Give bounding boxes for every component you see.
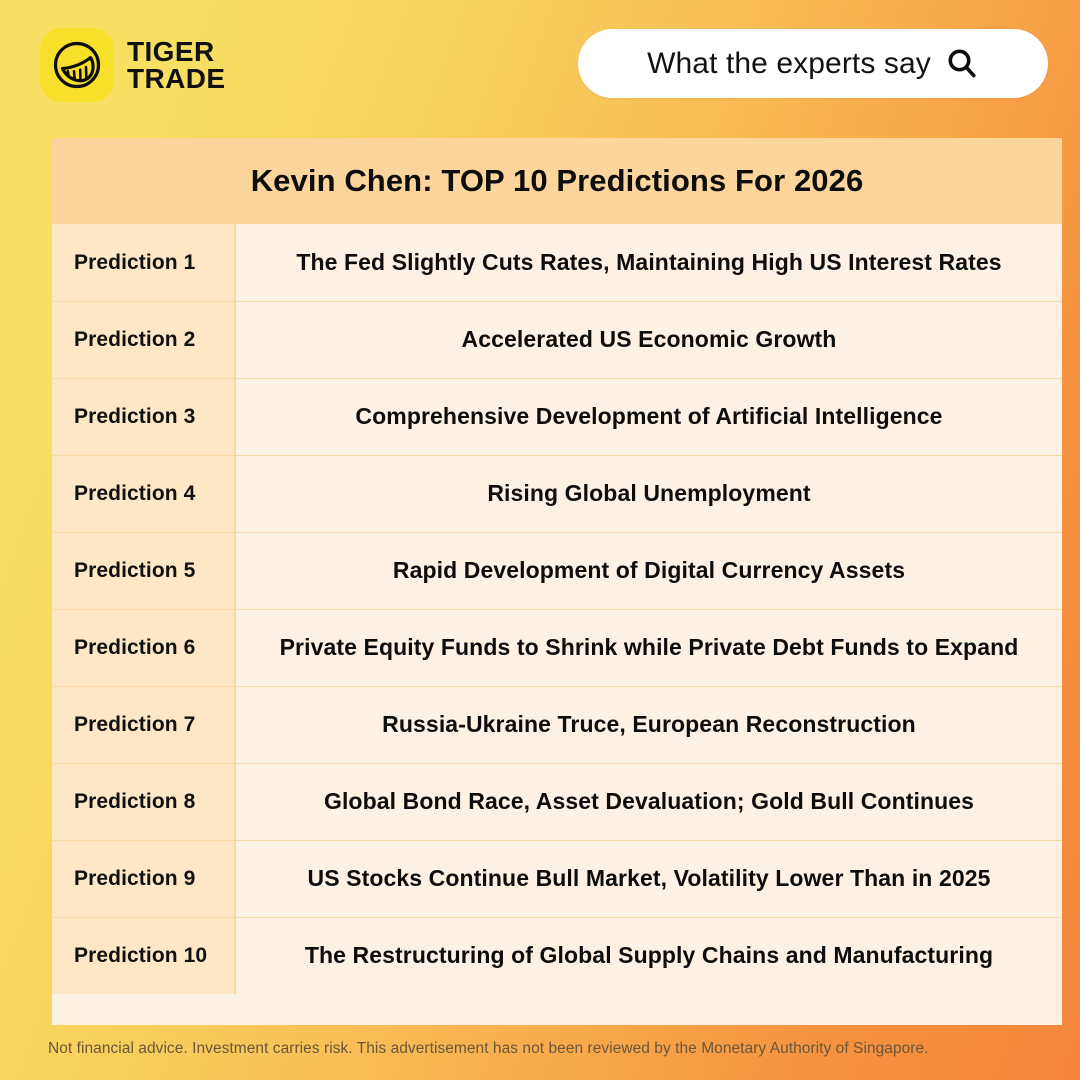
prediction-label-cell: Prediction 8 xyxy=(52,764,236,840)
brand-line-1: TIGER xyxy=(127,38,225,65)
table-row: Prediction 6 Private Equity Funds to Shr… xyxy=(52,609,1062,686)
prediction-label: Prediction 7 xyxy=(74,713,195,737)
expert-pill-label: What the experts say xyxy=(647,47,931,81)
prediction-text: Accelerated US Economic Growth xyxy=(462,326,837,354)
prediction-text-cell: Accelerated US Economic Growth xyxy=(236,302,1062,378)
what-the-experts-say-button[interactable]: What the experts say xyxy=(578,29,1048,98)
prediction-text-cell: Comprehensive Development of Artificial … xyxy=(236,379,1062,455)
prediction-text-cell: Russia-Ukraine Truce, European Reconstru… xyxy=(236,687,1062,763)
brand-wordmark: TIGER TRADE xyxy=(127,38,225,92)
prediction-text: US Stocks Continue Bull Market, Volatili… xyxy=(307,865,990,893)
prediction-label-cell: Prediction 3 xyxy=(52,379,236,455)
prediction-text: Rising Global Unemployment xyxy=(487,480,810,508)
prediction-label: Prediction 10 xyxy=(74,944,207,968)
prediction-label-cell: Prediction 10 xyxy=(52,918,236,994)
prediction-text: Rapid Development of Digital Currency As… xyxy=(393,557,905,585)
prediction-text-cell: Global Bond Race, Asset Devaluation; Gol… xyxy=(236,764,1062,840)
prediction-label-cell: Prediction 7 xyxy=(52,687,236,763)
table-row: Prediction 2 Accelerated US Economic Gro… xyxy=(52,301,1062,378)
table-body: Prediction 1 The Fed Slightly Cuts Rates… xyxy=(52,224,1062,994)
page-header: TIGER TRADE What the experts say xyxy=(0,0,1080,128)
prediction-label-cell: Prediction 1 xyxy=(52,224,236,301)
table-row: Prediction 8 Global Bond Race, Asset Dev… xyxy=(52,763,1062,840)
disclaimer: Not financial advice. Investment carries… xyxy=(48,1034,1048,1064)
search-icon xyxy=(945,47,979,81)
table-row: Prediction 3 Comprehensive Development o… xyxy=(52,378,1062,455)
prediction-text-cell: Private Equity Funds to Shrink while Pri… xyxy=(236,610,1062,686)
prediction-text: The Fed Slightly Cuts Rates, Maintaining… xyxy=(296,249,1001,277)
table-row: Prediction 5 Rapid Development of Digita… xyxy=(52,532,1062,609)
prediction-label: Prediction 8 xyxy=(74,790,195,814)
table-row: Prediction 4 Rising Global Unemployment xyxy=(52,455,1062,532)
table-row: Prediction 9 US Stocks Continue Bull Mar… xyxy=(52,840,1062,917)
prediction-label: Prediction 5 xyxy=(74,559,195,583)
tiger-trade-logo-icon xyxy=(40,28,114,102)
brand-logo[interactable]: TIGER TRADE xyxy=(40,28,225,102)
prediction-label: Prediction 1 xyxy=(74,251,195,275)
prediction-text-cell: The Restructuring of Global Supply Chain… xyxy=(236,918,1062,994)
table-row: Prediction 7 Russia-Ukraine Truce, Europ… xyxy=(52,686,1062,763)
predictions-table: Kevin Chen: TOP 10 Predictions For 2026 … xyxy=(52,138,1062,1025)
prediction-text: Private Equity Funds to Shrink while Pri… xyxy=(280,634,1019,662)
table-row: Prediction 10 The Restructuring of Globa… xyxy=(52,917,1062,994)
prediction-label: Prediction 3 xyxy=(74,405,195,429)
disclaimer-text: Not financial advice. Investment carries… xyxy=(48,1040,929,1058)
prediction-label-cell: Prediction 6 xyxy=(52,610,236,686)
prediction-text-cell: Rising Global Unemployment xyxy=(236,456,1062,532)
prediction-text-cell: US Stocks Continue Bull Market, Volatili… xyxy=(236,841,1062,917)
prediction-text: Russia-Ukraine Truce, European Reconstru… xyxy=(382,711,916,739)
prediction-text-cell: Rapid Development of Digital Currency As… xyxy=(236,533,1062,609)
prediction-label-cell: Prediction 4 xyxy=(52,456,236,532)
page-title: Kevin Chen: TOP 10 Predictions For 2026 xyxy=(251,163,864,199)
prediction-label: Prediction 4 xyxy=(74,482,195,506)
prediction-text: Global Bond Race, Asset Devaluation; Gol… xyxy=(324,788,974,816)
prediction-label-cell: Prediction 2 xyxy=(52,302,236,378)
prediction-label: Prediction 2 xyxy=(74,328,195,352)
table-title-bar: Kevin Chen: TOP 10 Predictions For 2026 xyxy=(52,138,1062,224)
prediction-label: Prediction 6 xyxy=(74,636,195,660)
prediction-label: Prediction 9 xyxy=(74,867,195,891)
prediction-text: The Restructuring of Global Supply Chain… xyxy=(305,942,993,970)
prediction-label-cell: Prediction 5 xyxy=(52,533,236,609)
brand-line-2: TRADE xyxy=(127,65,225,92)
prediction-text-cell: The Fed Slightly Cuts Rates, Maintaining… xyxy=(236,224,1062,301)
table-row: Prediction 1 The Fed Slightly Cuts Rates… xyxy=(52,224,1062,301)
prediction-text: Comprehensive Development of Artificial … xyxy=(355,403,942,431)
prediction-label-cell: Prediction 9 xyxy=(52,841,236,917)
